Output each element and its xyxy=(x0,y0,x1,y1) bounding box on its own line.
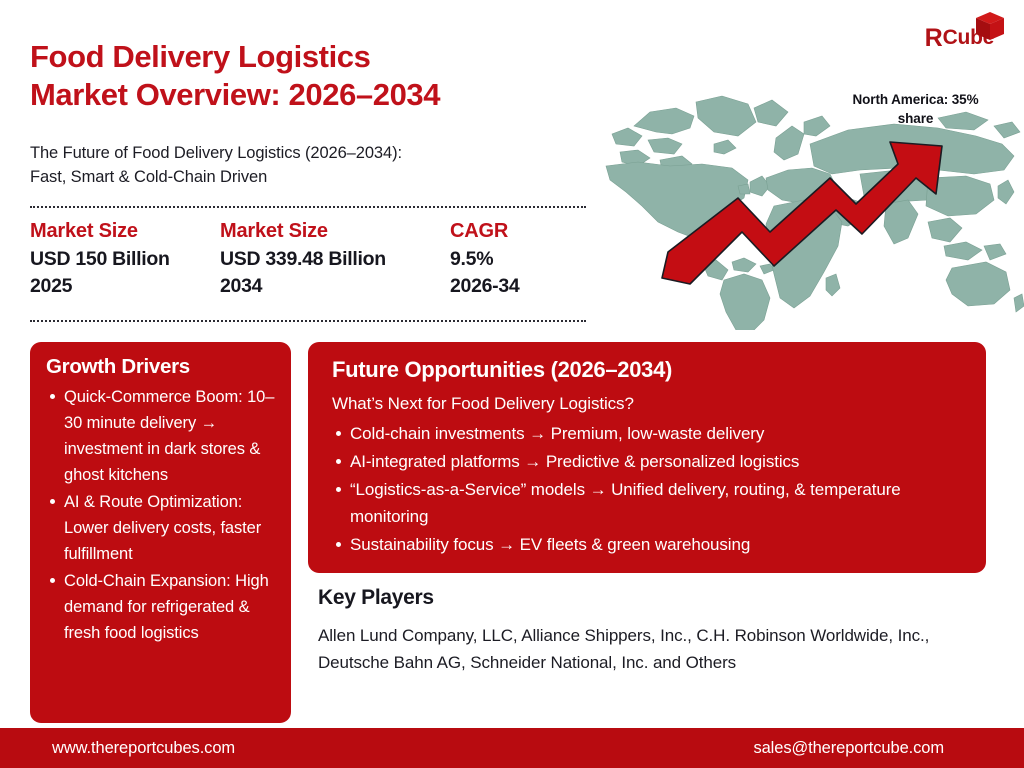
stat-market-size-2034: Market Size USD 339.48 Billion 2034 xyxy=(220,218,450,299)
page-subtitle: The Future of Food Delivery Logistics (2… xyxy=(30,141,590,189)
list-item: AI-integrated platforms → Predictive & p… xyxy=(332,449,966,475)
stat-period: 2034 xyxy=(220,273,450,300)
footer-website-link[interactable]: www.thereportcubes.com xyxy=(52,739,235,758)
list-item: AI & Route Optimization: Lower delivery … xyxy=(46,489,277,567)
growth-drivers-list: Quick-Commerce Boom: 10–30 minute delive… xyxy=(46,384,277,647)
stat-value: 9.5% xyxy=(450,246,590,273)
list-item: Cold-chain investments → Premium, low-wa… xyxy=(332,421,966,447)
stat-market-size-2025: Market Size USD 150 Billion 2025 xyxy=(30,218,220,299)
future-opportunities-subtitle: What’s Next for Food Delivery Logistics? xyxy=(332,392,966,416)
footer-bar: www.thereportcubes.com sales@thereportcu… xyxy=(0,728,1024,768)
stat-label: CAGR xyxy=(450,218,590,246)
future-opportunities-list: Cold-chain investments → Premium, low-wa… xyxy=(332,421,966,559)
footer-email-link[interactable]: sales@thereportcube.com xyxy=(753,739,944,758)
page-subtitle-line1: The Future of Food Delivery Logistics (2… xyxy=(30,141,590,165)
map-annotation: North America: 35% share xyxy=(828,90,1003,128)
page-subtitle-line2: Fast, Smart & Cold-Chain Driven xyxy=(30,165,590,189)
page-title-line2: Market Overview: 2026–2034 xyxy=(30,76,610,114)
infographic-page: ЯCube Food Delivery Logistics Market Ove… xyxy=(0,0,1024,768)
stat-period: 2025 xyxy=(30,273,220,300)
future-opportunities-title: Future Opportunities (2026–2034) xyxy=(332,356,966,385)
stat-value: USD 150 Billion xyxy=(30,246,220,273)
list-item: Cold-Chain Expansion: High demand for re… xyxy=(46,568,277,646)
map-annotation-line2: share xyxy=(898,111,934,126)
list-item: Quick-Commerce Boom: 10–30 minute delive… xyxy=(46,384,277,488)
map-annotation-line1: North America: 35% xyxy=(853,92,979,107)
stat-label: Market Size xyxy=(30,218,220,246)
key-players-title: Key Players xyxy=(318,586,958,610)
logo-r-glyph: Я xyxy=(925,24,943,53)
divider-bottom xyxy=(30,320,586,322)
stat-period: 2026-34 xyxy=(450,273,590,300)
key-players-body: Allen Lund Company, LLC, Alliance Shippe… xyxy=(318,623,958,677)
cube-icon xyxy=(973,10,1007,44)
list-item: Sustainability focus → EV fleets & green… xyxy=(332,532,966,558)
list-item: “Logistics-as-a-Service” models → Unifie… xyxy=(332,477,966,530)
stat-label: Market Size xyxy=(220,218,450,246)
stats-row: Market Size USD 150 Billion 2025 Market … xyxy=(30,218,590,299)
growth-drivers-title: Growth Drivers xyxy=(46,354,277,381)
page-title: Food Delivery Logistics Market Overview:… xyxy=(30,38,610,115)
page-title-line1: Food Delivery Logistics xyxy=(30,38,610,76)
growth-drivers-panel: Growth Drivers Quick-Commerce Boom: 10–3… xyxy=(30,342,291,723)
future-opportunities-panel: Future Opportunities (2026–2034) What’s … xyxy=(308,342,986,573)
stat-cagr: CAGR 9.5% 2026-34 xyxy=(450,218,590,299)
divider-top xyxy=(30,206,586,208)
brand-logo[interactable]: ЯCube xyxy=(925,8,1017,54)
stat-value: USD 339.48 Billion xyxy=(220,246,450,273)
key-players-section: Key Players Allen Lund Company, LLC, All… xyxy=(318,586,958,677)
